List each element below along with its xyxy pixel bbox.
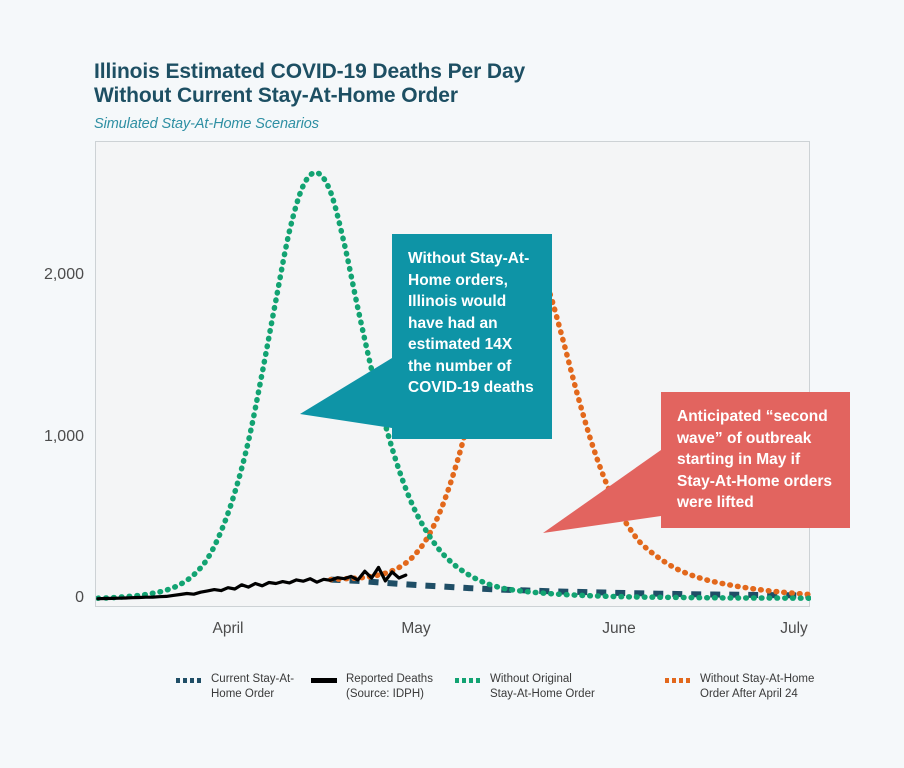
- y-axis-tick-label: 0: [14, 589, 84, 607]
- legend-swatch-1: [176, 678, 202, 683]
- x-axis-tick-label: May: [401, 620, 430, 638]
- legend-label: Reported Deaths (Source: IDPH): [346, 672, 433, 702]
- legend-label: Without Original Stay-At-Home Order: [490, 672, 595, 702]
- page-title: Illinois Estimated COVID-19 Deaths Per D…: [94, 60, 734, 108]
- x-axis-tick-label: June: [602, 620, 636, 638]
- annotation-callout-red: Anticipated “second wave” of outbreak st…: [661, 392, 850, 528]
- annotation-callout-teal: Without Stay-At-Home orders, Illinois wo…: [392, 234, 552, 439]
- legend-item[interactable]: Without Original Stay-At-Home Order: [455, 672, 595, 702]
- legend-label: Current Stay-At- Home Order: [211, 672, 294, 702]
- title-line-1: Illinois Estimated COVID-19 Deaths Per D…: [94, 60, 525, 83]
- legend-item[interactable]: Current Stay-At- Home Order: [176, 672, 294, 702]
- x-axis-tick-label: July: [780, 620, 808, 638]
- y-axis-ticks: 01,0002,000: [12, 141, 84, 607]
- chart-legend: Current Stay-At- Home OrderReported Deat…: [95, 672, 855, 718]
- x-axis-tick-label: April: [212, 620, 243, 638]
- chart-subtitle: Simulated Stay-At-Home Scenarios: [94, 116, 734, 132]
- legend-swatch-2: [311, 678, 337, 683]
- legend-item[interactable]: Without Stay-At-Home Order After April 2…: [665, 672, 814, 702]
- x-axis-ticks: AprilMayJuneJuly: [95, 620, 810, 644]
- legend-swatch-3: [455, 678, 481, 683]
- title-block: Illinois Estimated COVID-19 Deaths Per D…: [94, 60, 734, 132]
- legend-swatch-4: [665, 678, 691, 683]
- legend-label: Without Stay-At-Home Order After April 2…: [700, 672, 814, 702]
- legend-item[interactable]: Reported Deaths (Source: IDPH): [311, 672, 433, 702]
- y-axis-tick-label: 1,000: [14, 428, 84, 446]
- title-line-2: Without Current Stay-At-Home Order: [94, 84, 734, 108]
- y-axis-tick-label: 2,000: [14, 266, 84, 284]
- chart-container: Illinois Estimated COVID-19 Deaths Per D…: [0, 0, 904, 768]
